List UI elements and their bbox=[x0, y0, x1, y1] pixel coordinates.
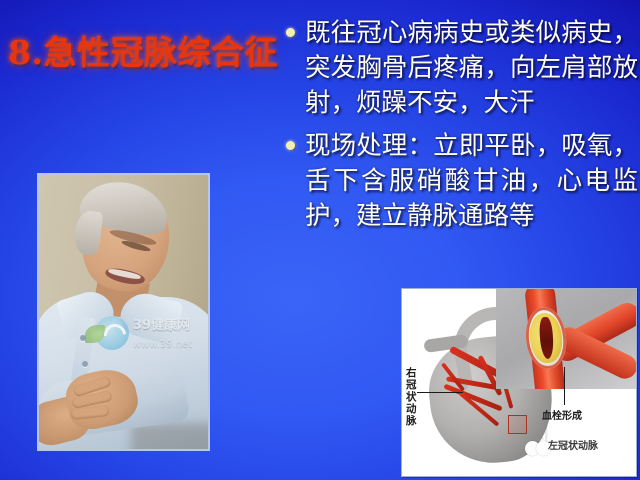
page-title: 8.急性冠脉综合征 bbox=[8, 26, 292, 74]
watermark-site-url: www.39.net bbox=[133, 339, 192, 350]
coronary-diagram-panel: 健康网 右冠状动脉 血栓形成 左冠状动脉 bbox=[401, 288, 637, 477]
list-item: 现场处理：立即平卧，吸氧，舌下含服硝酸甘油，心电监护，建立静脉通路等 bbox=[286, 129, 638, 234]
diagram-highlight-box bbox=[508, 415, 527, 434]
photo-shadow bbox=[131, 423, 210, 451]
watermark-site-name: 39健康网 bbox=[133, 318, 190, 333]
patient-photo: 39健康网 www.39.net bbox=[37, 173, 210, 451]
swirl-logo-icon bbox=[95, 316, 129, 350]
leader-line-rca bbox=[417, 392, 463, 393]
label-left-coronary-artery: 左冠状动脉 bbox=[548, 437, 598, 452]
bullet-text: 既往冠心病病史或类似病史，突发胸骨后疼痛，向左肩部放射，烦躁不安，大汗 bbox=[305, 16, 638, 121]
watermark-text: 39健康网 www.39.net bbox=[133, 315, 210, 351]
bullet-list: 既往冠心病病史或类似病史，突发胸骨后疼痛，向左肩部放射，烦躁不安，大汗 现场处理… bbox=[286, 16, 638, 242]
artery-cross-section-inset bbox=[496, 289, 636, 389]
photo-button bbox=[82, 361, 88, 367]
leaf-icon bbox=[85, 325, 105, 343]
list-item: 既往冠心病病史或类似病史，突发胸骨后疼痛，向左肩部放射，烦躁不安，大汗 bbox=[286, 16, 638, 121]
slide-canvas: 8.急性冠脉综合征 既往冠心病病史或类似病史，突发胸骨后疼痛，向左肩部放射，烦躁… bbox=[0, 0, 640, 480]
leader-line-thrombus bbox=[564, 367, 565, 405]
photo-watermark: 39健康网 www.39.net bbox=[95, 315, 210, 351]
bullet-dot-icon bbox=[286, 28, 295, 37]
label-right-coronary-artery: 右冠状动脉 bbox=[406, 367, 420, 427]
label-thrombus-formation: 血栓形成 bbox=[542, 407, 582, 422]
bullet-text: 现场处理：立即平卧，吸氧，舌下含服硝酸甘油，心电监护，建立静脉通路等 bbox=[305, 129, 638, 234]
bullet-dot-icon bbox=[286, 141, 295, 150]
